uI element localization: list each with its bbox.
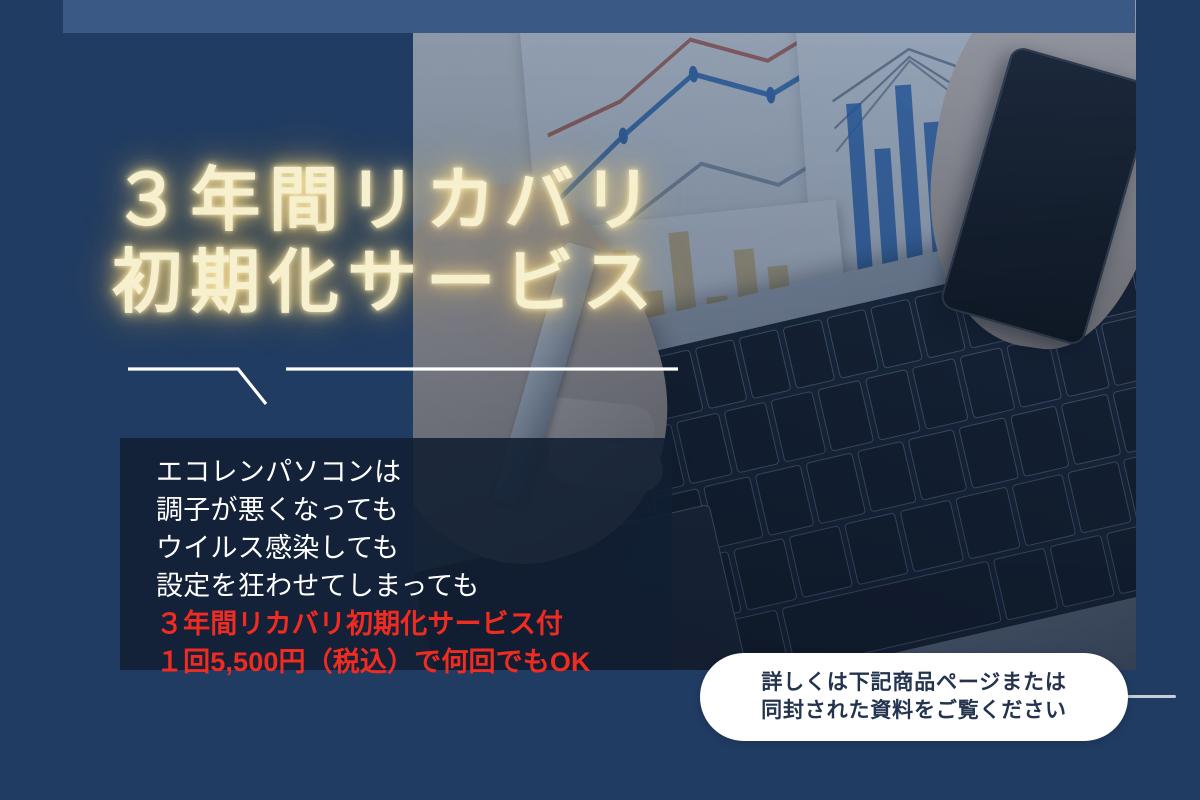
body-line-2: 調子が悪くなっても	[156, 494, 672, 527]
body-line-5-service-highlight: ３年間リカバリ初期化サービス付	[156, 608, 672, 641]
callout-bubble[interactable]: 詳しくは下記商品ページまたは 同封された資料をご覧ください	[700, 653, 1128, 741]
body-line-3: ウイルス感染しても	[156, 532, 672, 565]
headline-line-1: ３年間リカバリ	[112, 165, 661, 235]
description-panel: エコレンパソコンは 調子が悪くなっても ウイルス感染しても 設定を狂わせてしまっ…	[120, 438, 672, 670]
promo-banner: ３年間リカバリ 初期化サービス エコレンパソコンは 調子が悪くなっても ウイルス…	[0, 0, 1200, 800]
headline-line-2: 初期化サービス	[112, 247, 661, 317]
callout-line-2: 同封された資料をご覧ください	[761, 697, 1067, 725]
decorative-rule	[128, 362, 678, 412]
body-line-6-price-highlight: １回5,500円（税込）で何回でもOK	[156, 646, 672, 679]
body-line-1: エコレンパソコンは	[156, 456, 672, 489]
top-accent-band	[63, 0, 1135, 33]
body-line-4: 設定を狂わせてしまっても	[156, 570, 672, 603]
callout-line-1: 詳しくは下記商品ページまたは	[761, 669, 1066, 697]
page-title: ３年間リカバリ 初期化サービス	[112, 165, 661, 329]
decorative-rule-icon	[128, 362, 678, 412]
